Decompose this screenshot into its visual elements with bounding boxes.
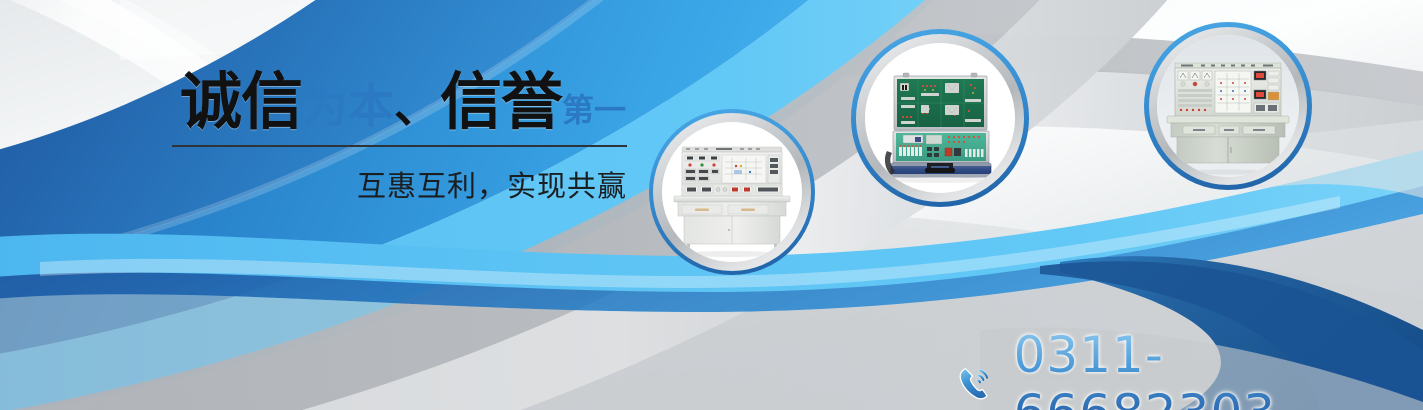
- promo-banner: 诚信 为本 、 信誉 第一 互惠互利，实现共赢: [0, 0, 1423, 410]
- product-photo-2[interactable]: [851, 29, 1029, 207]
- headline-punctuation: 、: [394, 83, 440, 129]
- product-photo-1[interactable]: [649, 109, 815, 275]
- photo-inner-3: [1157, 35, 1299, 177]
- headline-part-weiben: 为本: [302, 83, 394, 129]
- headline-part-diyi: 第一: [562, 94, 626, 126]
- headline-block: 诚信 为本 、 信誉 第一 互惠互利，实现共赢: [172, 72, 627, 205]
- phone-call-icon: [952, 360, 1000, 408]
- headline: 诚信 为本 、 信誉 第一: [172, 72, 627, 138]
- photo-inner-1: [662, 122, 802, 262]
- contact-block[interactable]: 0311-66682303: [952, 326, 1423, 410]
- phone-number[interactable]: 0311-66682303: [1014, 326, 1423, 410]
- photo-inner-2: [865, 43, 1015, 193]
- headline-part-xinyu: 信誉: [440, 72, 562, 134]
- product-photo-3[interactable]: [1144, 22, 1312, 190]
- subheadline: 互惠互利，实现共赢: [172, 163, 627, 205]
- headline-divider: [172, 145, 627, 147]
- headline-part-chengxin: 诚信: [180, 72, 302, 134]
